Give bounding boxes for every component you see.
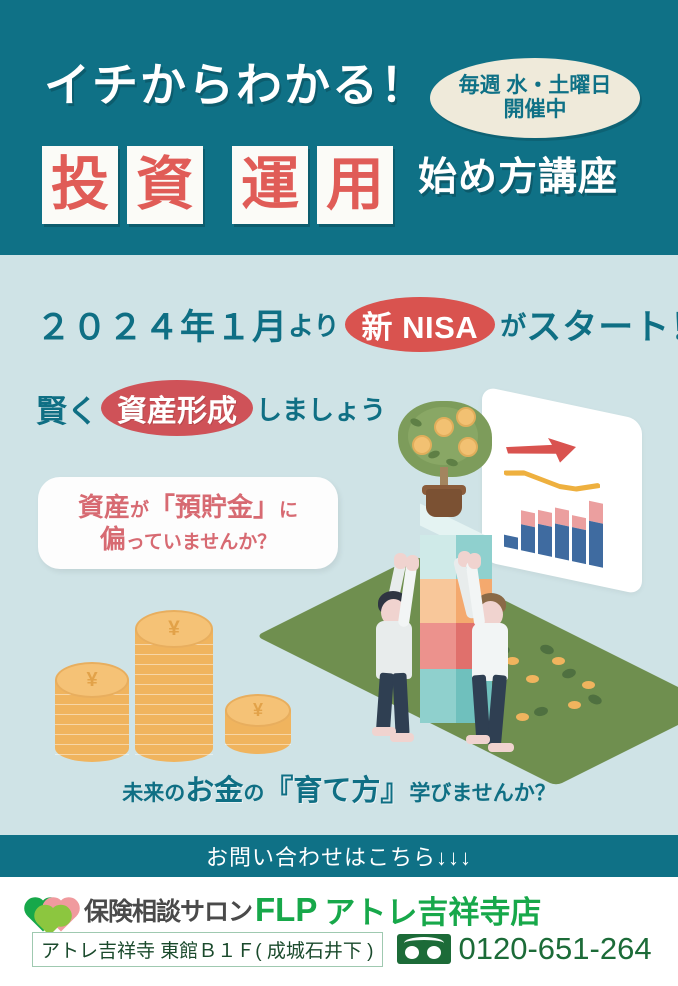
person-left-body	[376, 621, 412, 679]
schedule-badge-line2: 開催中	[504, 98, 567, 122]
ground-dot	[568, 701, 581, 709]
person-right-hand-front	[468, 553, 481, 569]
tree-coin	[434, 417, 454, 437]
flp-logo-icon	[32, 893, 78, 927]
tree-coin	[456, 407, 476, 427]
nisa-pill: 新 NISA	[345, 297, 496, 352]
tagline-part3: の	[243, 782, 264, 805]
subline-prefix: 賢く	[36, 386, 98, 431]
bar-6	[589, 501, 603, 568]
address-phone-row: アトレ吉祥寺 東館Ｂ１Ｆ( 成城石井下 ) 0120-651-264	[32, 931, 652, 967]
person-right-shoe-back	[466, 735, 490, 744]
schedule-badge: 毎週 水・土曜日 開催中	[430, 58, 640, 138]
ground-dot	[552, 657, 565, 665]
tree-coin	[458, 437, 478, 457]
store-address: アトレ吉祥寺 東館Ｂ１Ｆ( 成城石井下 )	[32, 932, 383, 967]
tagline-part4: 『育て方』	[264, 775, 409, 807]
brand-logo-row: 保険相談サロン FLP アトレ吉祥寺店	[32, 887, 541, 932]
contact-bar-text: お問い合わせはこちら↓↓↓	[206, 840, 472, 872]
tagline-part5: 学びませんか？	[409, 782, 555, 805]
bubble-text-ga: が	[130, 500, 149, 521]
flower-pot	[426, 489, 462, 517]
contact-bar: お問い合わせはこちら↓↓↓	[0, 835, 678, 877]
money-tree	[390, 401, 500, 521]
person-right-shoe-front	[488, 743, 514, 752]
tagline-part1: 未来の	[122, 782, 185, 805]
question-bubble: 資産が「預貯金」に 偏っていませんか？	[38, 477, 338, 569]
kanji-box-3: 運	[232, 146, 308, 224]
coin-stack-right: ¥	[225, 694, 291, 770]
poster-footer: 保険相談サロン FLP アトレ吉祥寺店 アトレ吉祥寺 東館Ｂ１Ｆ( 成城石井下 …	[0, 877, 678, 986]
logo-brand-text: FLP	[255, 891, 317, 929]
bubble-text-katayo: 偏	[100, 524, 126, 554]
poster-header: イチからわかる！ 投 資 運 用 始め方講座 毎週 水・土曜日 開催中	[0, 0, 678, 255]
person-left-shoe-front	[390, 733, 414, 742]
ground-dot	[582, 681, 595, 689]
person-left-leg-back	[376, 673, 394, 732]
isometric-investment-illustration	[330, 395, 678, 795]
person-right	[458, 563, 528, 753]
bubble-text-tail: っていませんか？	[126, 532, 276, 553]
tagline-part2: お金	[185, 775, 243, 807]
freedial-icon	[397, 934, 451, 964]
bubble-text-a: 資産	[78, 492, 130, 522]
asset-building-pill: 資産形成	[101, 380, 253, 436]
headline: ２０２４年１月 より 新 NISA が スタート！	[36, 297, 678, 352]
person-left	[372, 555, 442, 741]
logo-store-text: アトレ吉祥寺店	[324, 887, 541, 932]
headline-prefix-small: より	[288, 306, 339, 343]
person-right-body	[472, 623, 508, 681]
headline-suffix: スタート！	[526, 299, 678, 350]
schedule-badge-line1: 毎週 水・土曜日	[459, 74, 612, 98]
coin-stack-left: ¥	[55, 662, 129, 770]
coin-stack-center: ¥	[135, 610, 213, 770]
coin-face-center: ¥	[135, 610, 213, 648]
phone-number[interactable]: 0120-651-264	[459, 931, 652, 967]
logo-prefix-text: 保険相談サロン	[84, 892, 252, 928]
poster-body: ２０２４年１月 より 新 NISA が スタート！ 賢く 資産形成 しましょう …	[0, 255, 678, 835]
coin-face-right: ¥	[225, 694, 291, 727]
growth-arrow-icon	[504, 427, 578, 469]
header-title: イチからわかる！	[44, 62, 428, 108]
bubble-text-ni: に	[279, 500, 298, 521]
kanji-box-1: 投	[42, 146, 118, 224]
kanji-boxes: 投 資 運 用	[42, 146, 393, 224]
person-left-hand-front	[406, 555, 419, 571]
person-left-leg-front	[392, 673, 409, 736]
bar-5	[572, 515, 586, 564]
question-bubble-line2: 偏っていませんか？	[100, 523, 277, 556]
header-subtitle: 始め方講座	[418, 158, 618, 197]
coin-face-left: ¥	[55, 662, 129, 698]
kanji-box-2: 資	[127, 146, 203, 224]
bar-4	[555, 508, 569, 561]
bubble-text-b: 「預貯金」	[149, 492, 279, 522]
kanji-box-4: 用	[317, 146, 393, 224]
headline-prefix: ２０２４年１月	[36, 299, 288, 350]
question-bubble-line1: 資産が「預貯金」に	[78, 491, 298, 524]
bottom-tagline: 未来のお金の『育て方』学びませんか？	[0, 767, 678, 809]
person-right-leg-front	[487, 675, 507, 746]
headline-suffix-small: が	[500, 306, 526, 343]
poster: イチからわかる！ 投 資 運 用 始め方講座 毎週 水・土曜日 開催中 ２０２４…	[0, 0, 678, 986]
